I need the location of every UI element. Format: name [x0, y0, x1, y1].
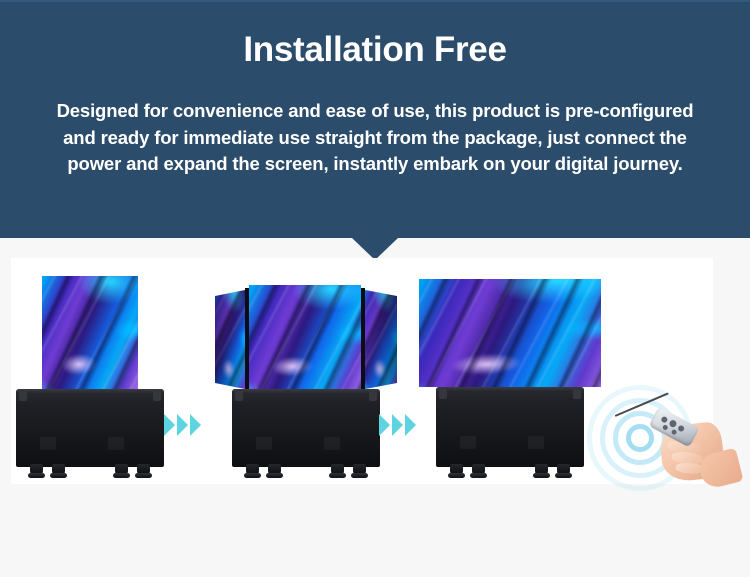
chevron-right-icon [164, 414, 175, 436]
caster-wheel [331, 464, 344, 476]
header-banner: Installation Free Designed for convenien… [0, 0, 750, 238]
panel-seam [361, 288, 365, 391]
caster-wheel [353, 464, 366, 476]
page-title: Installation Free [0, 28, 750, 72]
cabinet-vent [108, 437, 124, 450]
display-screen-left-wing [215, 290, 245, 389]
remote-button[interactable] [662, 424, 669, 431]
cabinet-vent [324, 437, 340, 450]
chevron-right-icon [379, 414, 390, 436]
caster-wheel [450, 464, 463, 476]
cabinet-base [16, 389, 164, 467]
cabinet-base [436, 387, 584, 467]
screen-shadow-bands [419, 279, 601, 387]
cabinet-left-ear [235, 391, 243, 401]
caster-wheel [557, 464, 570, 476]
remote-button[interactable] [660, 416, 668, 424]
caster-wheel [137, 464, 150, 476]
chevron-right-icon [405, 414, 416, 436]
cabinet-vent [460, 436, 476, 449]
chevron-right-icon [392, 414, 403, 436]
display-screen [42, 276, 138, 390]
cabinet-top-lip [16, 389, 164, 394]
remote-button[interactable] [671, 429, 678, 436]
cabinet-left-ear [439, 389, 447, 399]
screen-shadow-bands [42, 276, 138, 390]
remote-button[interactable] [677, 424, 685, 432]
chevron-right-icon [190, 414, 201, 436]
cabinet-vent [528, 436, 544, 449]
cabinet-vent [256, 437, 272, 450]
caster-wheel [246, 464, 259, 476]
remote-button[interactable] [668, 419, 677, 428]
cabinet-right-ear [369, 391, 377, 401]
cabinet-right-ear [573, 389, 581, 399]
chevron-right-icon [177, 414, 188, 436]
progress-arrow [379, 414, 416, 436]
cabinet-top-lip [436, 387, 584, 392]
cabinet-vent [40, 437, 56, 450]
display-screen-wide [419, 279, 601, 387]
folded-display-unit [16, 276, 164, 478]
cabinet-base [232, 389, 380, 467]
down-triangle-icon [352, 238, 398, 260]
caster-wheel [535, 464, 548, 476]
header-top-highlight [0, 0, 750, 2]
header-description: Designed for convenience and ease of use… [50, 98, 700, 178]
progress-arrow [164, 414, 201, 436]
caster-wheel [52, 464, 65, 476]
screen-shadow-bands [249, 285, 361, 391]
page-root: Installation Free Designed for convenien… [0, 0, 750, 577]
caster-wheel [268, 464, 281, 476]
display-screen-right-wing [365, 290, 397, 389]
cabinet-top-lip [232, 389, 380, 394]
cabinet-right-ear [153, 391, 161, 401]
wing-shading [215, 290, 245, 389]
fully-expanded-display-unit [419, 276, 601, 478]
display-screen-center [249, 285, 361, 391]
partially-expanded-display-unit [215, 276, 397, 478]
cabinet-left-ear [19, 391, 27, 401]
caster-wheel [472, 464, 485, 476]
caster-wheel [115, 464, 128, 476]
caster-wheel [30, 464, 43, 476]
wing-shading [365, 290, 397, 389]
signal-ring [626, 424, 654, 452]
